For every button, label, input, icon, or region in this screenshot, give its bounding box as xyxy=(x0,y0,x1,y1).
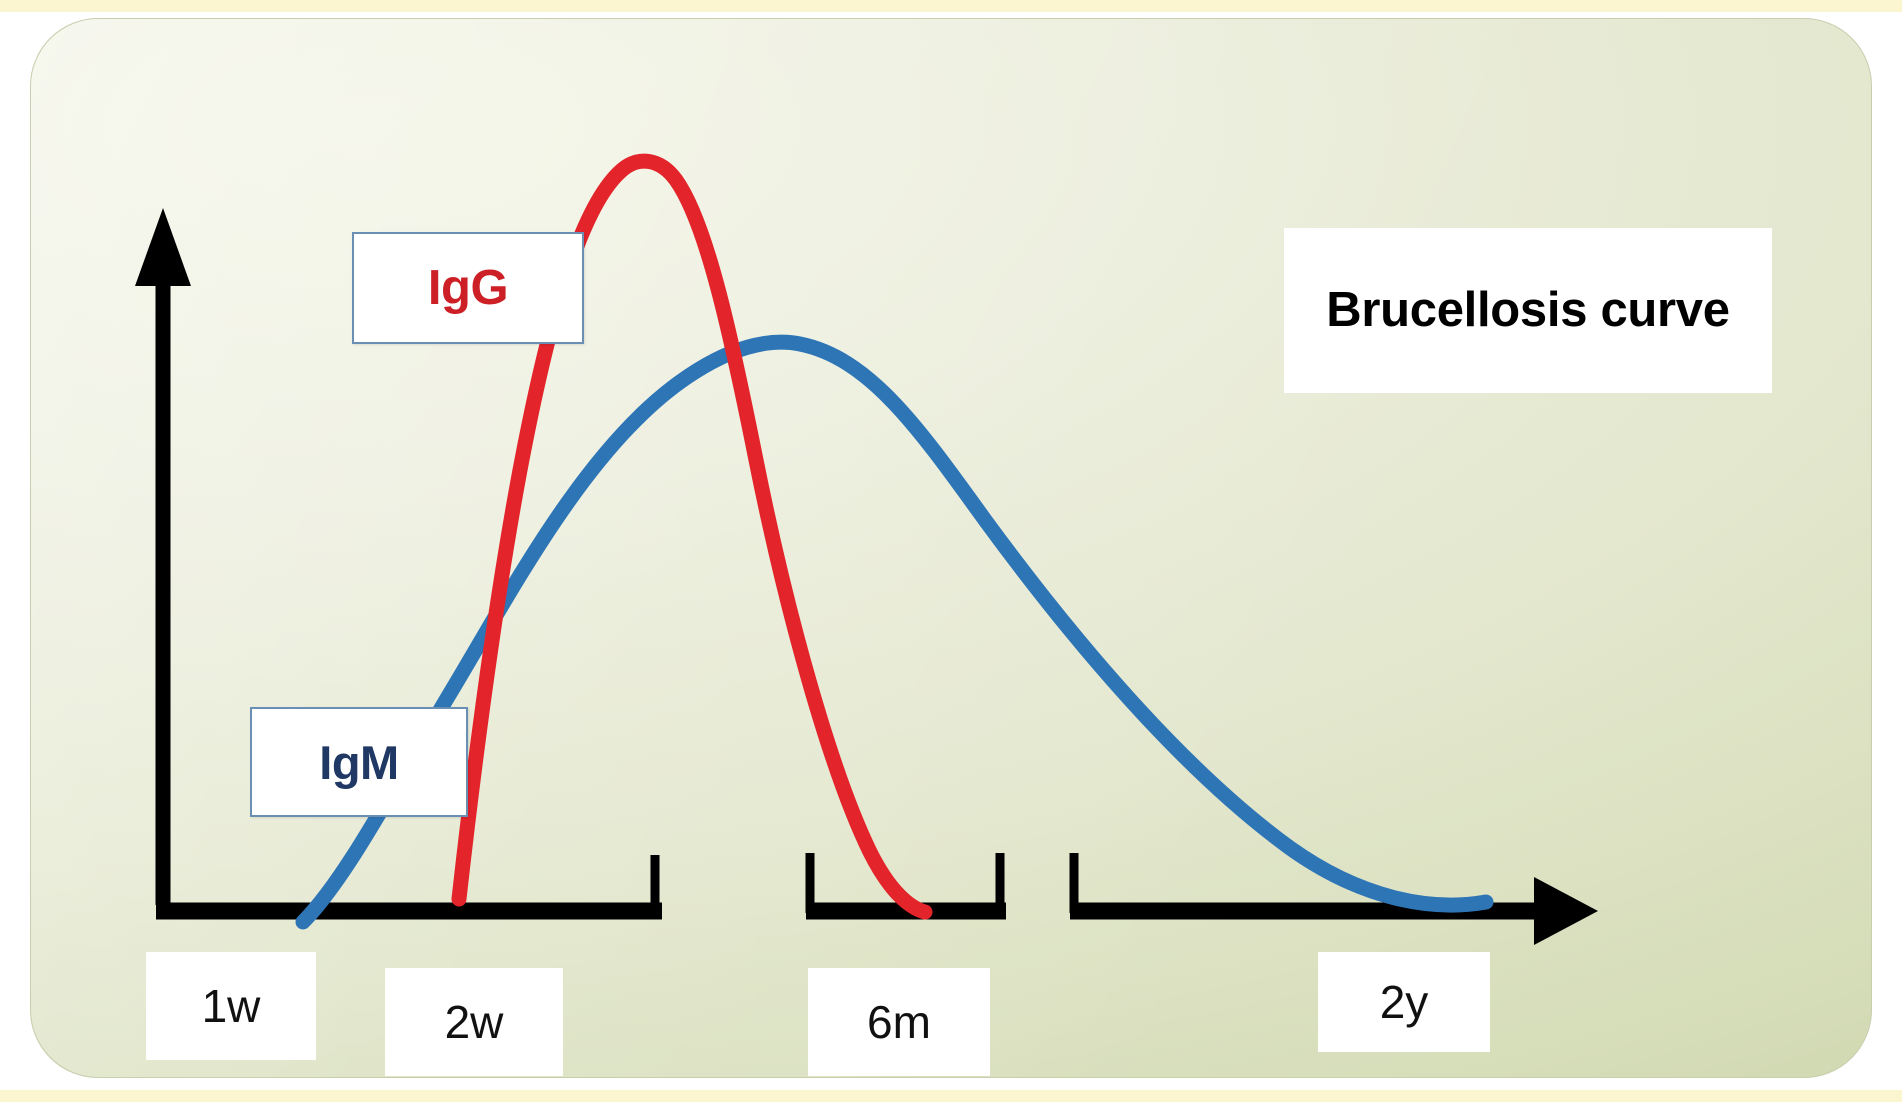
x-tick-label-1w-text: 1w xyxy=(202,979,261,1033)
igg-legend-label: IgG xyxy=(428,264,508,313)
chart-plot-area xyxy=(0,0,1902,1102)
igg-legend-box[interactable]: IgG xyxy=(352,232,584,344)
x-tick-label-6m: 6m xyxy=(808,968,990,1076)
x-tick-label-1w: 1w xyxy=(146,952,316,1060)
x-tick-label-2y: 2y xyxy=(1318,952,1490,1052)
igm-legend-box[interactable]: IgM xyxy=(250,707,468,817)
x-tick-label-2w: 2w xyxy=(385,968,563,1076)
x-axis-arrow-icon xyxy=(1534,877,1598,945)
igm-curve xyxy=(303,342,1486,922)
chart-title: Brucellosis curve xyxy=(1326,286,1729,335)
slide-canvas: IgG IgM Brucellosis curve 1w 2w 6m 2y xyxy=(0,0,1902,1102)
igm-legend-label: IgM xyxy=(319,739,398,786)
x-tick-label-6m-text: 6m xyxy=(867,995,931,1049)
chart-title-box: Brucellosis curve xyxy=(1284,228,1772,393)
x-tick-label-2y-text: 2y xyxy=(1380,975,1429,1029)
y-axis-arrow-icon xyxy=(135,208,191,286)
x-tick-label-2w-text: 2w xyxy=(445,995,504,1049)
